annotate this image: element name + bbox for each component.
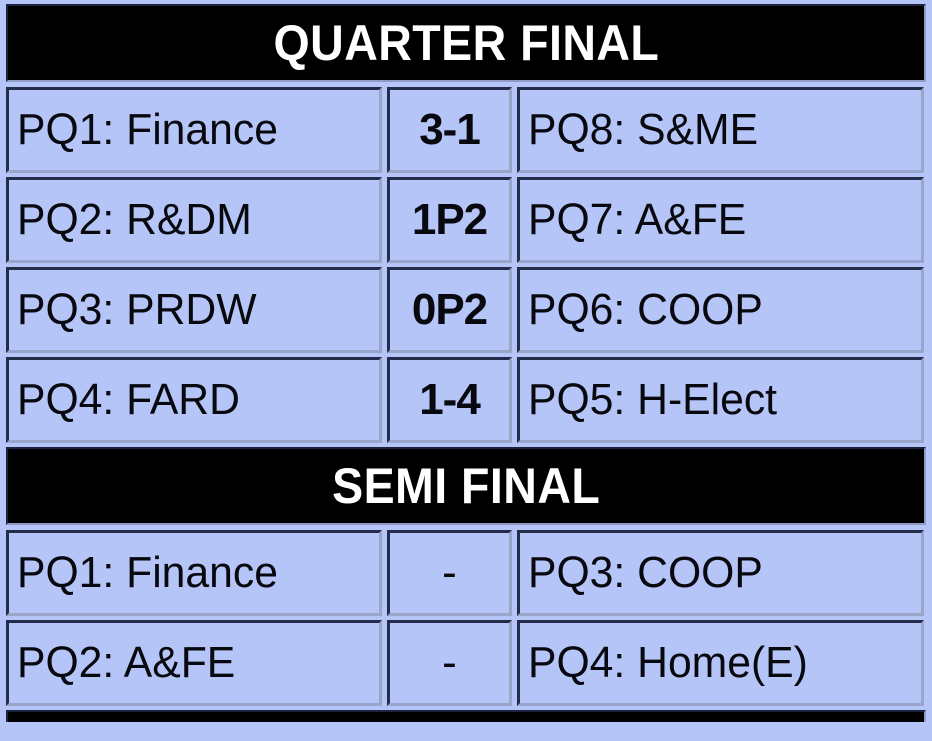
team-left-label: PQ3: PRDW <box>17 288 257 332</box>
team-left-cell[interactable]: PQ1: Finance <box>6 530 382 616</box>
score-cell[interactable]: 0P2 <box>387 267 512 353</box>
table-row[interactable]: PQ4: FARD 1-4 PQ5: H-Elect <box>6 357 926 443</box>
team-right-label: PQ4: Home(E) <box>528 641 808 685</box>
team-right-label: PQ8: S&ME <box>528 108 758 152</box>
team-left-label: PQ1: Finance <box>17 551 278 595</box>
match-list-quarter-final: PQ1: Finance 3-1 PQ8: S&ME PQ2: R&DM 1P2… <box>6 87 926 443</box>
section-title: QUARTER FINAL <box>273 18 659 68</box>
team-right-label: PQ7: A&FE <box>528 198 746 242</box>
table-row[interactable]: PQ2: A&FE - PQ4: Home(E) <box>6 620 926 706</box>
team-right-cell[interactable]: PQ7: A&FE <box>517 177 924 263</box>
table-row[interactable]: PQ1: Finance - PQ3: COOP <box>6 530 926 616</box>
score-label: 0P2 <box>412 288 487 332</box>
team-left-label: PQ4: FARD <box>17 378 240 422</box>
team-right-cell[interactable]: PQ3: COOP <box>517 530 924 616</box>
team-left-cell[interactable]: PQ2: A&FE <box>6 620 382 706</box>
score-label: - <box>442 641 457 685</box>
tournament-bracket: QUARTER FINAL PQ1: Finance 3-1 PQ8: S&ME… <box>0 0 932 741</box>
section-header-semi-final: SEMI FINAL <box>6 447 926 525</box>
section-header-next-partial <box>6 710 926 722</box>
table-row[interactable]: PQ1: Finance 3-1 PQ8: S&ME <box>6 87 926 173</box>
section-title: SEMI FINAL <box>332 461 600 511</box>
team-left-cell[interactable]: PQ1: Finance <box>6 87 382 173</box>
section-header-quarter-final: QUARTER FINAL <box>6 4 926 82</box>
table-row[interactable]: PQ2: R&DM 1P2 PQ7: A&FE <box>6 177 926 263</box>
team-right-cell[interactable]: PQ6: COOP <box>517 267 924 353</box>
team-right-label: PQ3: COOP <box>528 551 763 595</box>
team-left-cell[interactable]: PQ4: FARD <box>6 357 382 443</box>
team-left-label: PQ2: A&FE <box>17 641 235 685</box>
table-row[interactable]: PQ3: PRDW 0P2 PQ6: COOP <box>6 267 926 353</box>
score-label: 1-4 <box>419 378 480 422</box>
team-right-cell[interactable]: PQ4: Home(E) <box>517 620 924 706</box>
team-left-label: PQ2: R&DM <box>17 198 252 242</box>
score-cell[interactable]: - <box>387 620 512 706</box>
team-right-label: PQ6: COOP <box>528 288 763 332</box>
score-cell[interactable]: 1-4 <box>387 357 512 443</box>
team-left-cell[interactable]: PQ2: R&DM <box>6 177 382 263</box>
team-left-label: PQ1: Finance <box>17 108 278 152</box>
score-label: 3-1 <box>419 108 480 152</box>
team-right-cell[interactable]: PQ5: H-Elect <box>517 357 924 443</box>
team-right-label: PQ5: H-Elect <box>528 378 777 422</box>
score-cell[interactable]: 3-1 <box>387 87 512 173</box>
score-cell[interactable]: 1P2 <box>387 177 512 263</box>
score-label: 1P2 <box>412 198 487 242</box>
score-cell[interactable]: - <box>387 530 512 616</box>
team-left-cell[interactable]: PQ3: PRDW <box>6 267 382 353</box>
score-label: - <box>442 551 457 595</box>
match-list-semi-final: PQ1: Finance - PQ3: COOP PQ2: A&FE - PQ4… <box>6 530 926 706</box>
team-right-cell[interactable]: PQ8: S&ME <box>517 87 924 173</box>
